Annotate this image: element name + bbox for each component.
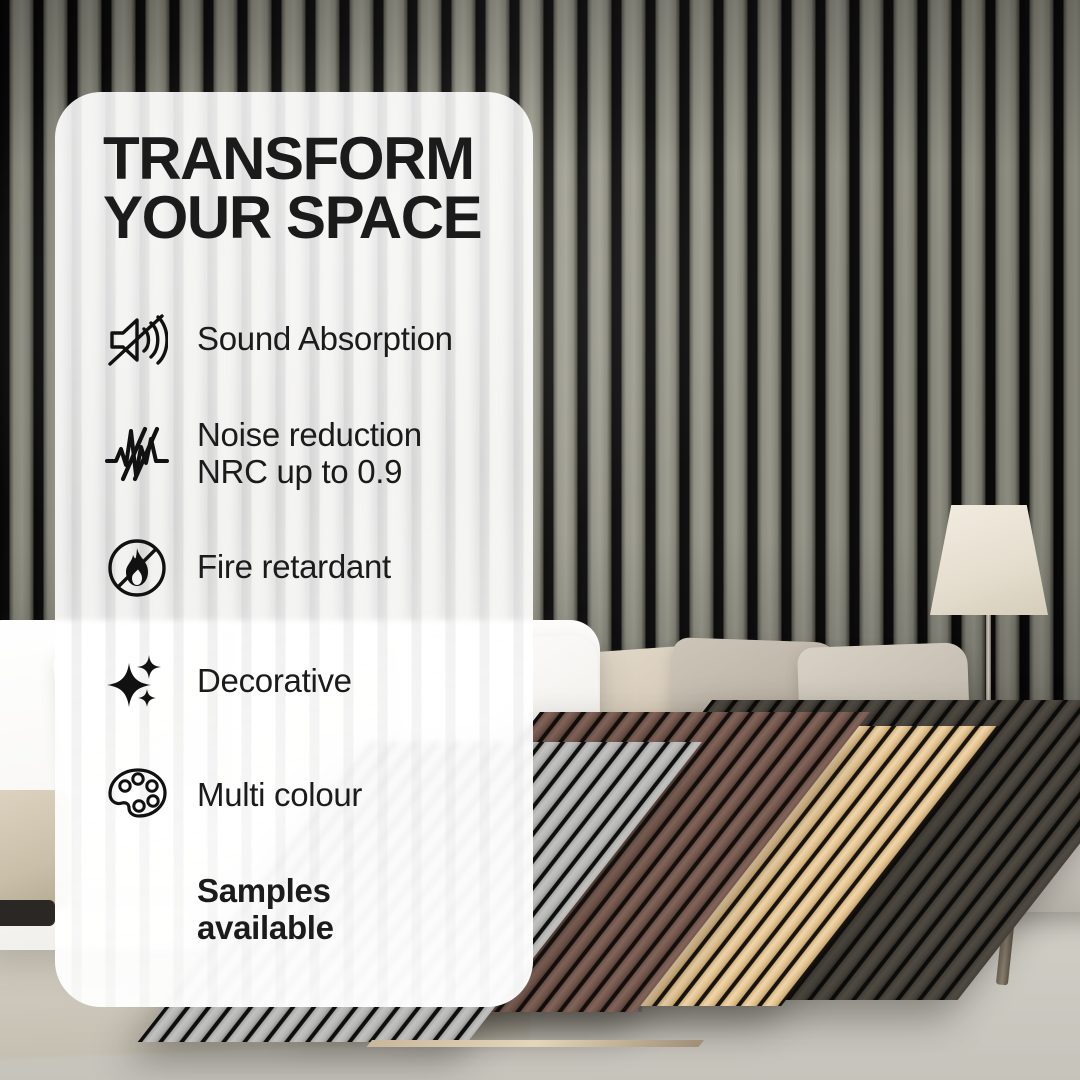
features-card: TRANSFORM YOUR SPACE Sound Absorption bbox=[55, 92, 533, 1007]
empty-icon-slot bbox=[103, 876, 171, 944]
feature-label: Sound Absorption bbox=[197, 321, 453, 358]
paint-palette-icon bbox=[103, 762, 171, 830]
sparkles-icon bbox=[103, 648, 171, 716]
page-title: TRANSFORM YOUR SPACE bbox=[103, 116, 503, 248]
feature-label: Samples available bbox=[197, 873, 334, 947]
feature-item-multi-colour: Multi colour bbox=[103, 750, 503, 842]
feature-label: Decorative bbox=[197, 663, 352, 700]
feature-label: Fire retardant bbox=[197, 549, 391, 586]
feature-label: Noise reduction NRC up to 0.9 bbox=[197, 417, 422, 491]
panel-edge-highlight bbox=[367, 1040, 704, 1047]
promo-image-canvas: TRANSFORM YOUR SPACE Sound Absorption bbox=[0, 0, 1080, 1080]
muted-speaker-icon bbox=[103, 306, 171, 374]
feature-item-sound-absorption: Sound Absorption bbox=[103, 294, 503, 386]
feature-list: Sound Absorption Noise reduction NRC up … bbox=[103, 294, 503, 956]
no-fire-icon bbox=[103, 534, 171, 602]
ottoman-base bbox=[0, 900, 55, 926]
feature-item-decorative: Decorative bbox=[103, 636, 503, 728]
feature-item-samples-available: Samples available bbox=[103, 864, 503, 956]
feature-label: Multi colour bbox=[197, 777, 362, 814]
sound-waveform-icon bbox=[103, 420, 171, 488]
feature-item-fire-retardant: Fire retardant bbox=[103, 522, 503, 614]
feature-item-noise-reduction: Noise reduction NRC up to 0.9 bbox=[103, 408, 503, 500]
